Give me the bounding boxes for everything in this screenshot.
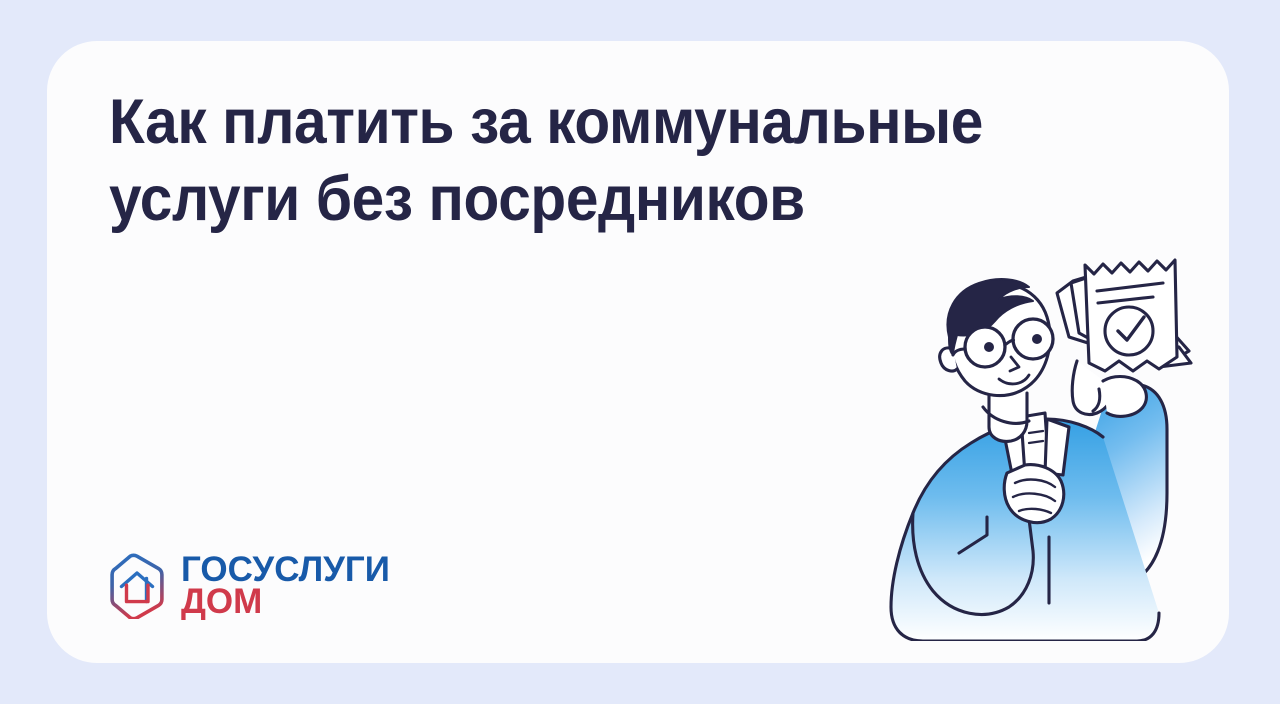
brand-logo[interactable]: ГОСУСЛУГИ ДОМ [107,553,390,619]
hero-illustration [807,221,1227,641]
hexagon-house-icon [107,553,167,619]
poster-canvas: Как платить за коммунальные услуги без п… [0,0,1280,704]
brand-logo-line2: ДОМ [181,586,390,618]
page-title: Как платить за коммунальные услуги без п… [109,84,1020,238]
brand-logo-text: ГОСУСЛУГИ ДОМ [181,554,390,618]
content-card: Как платить за коммунальные услуги без п… [47,41,1229,663]
